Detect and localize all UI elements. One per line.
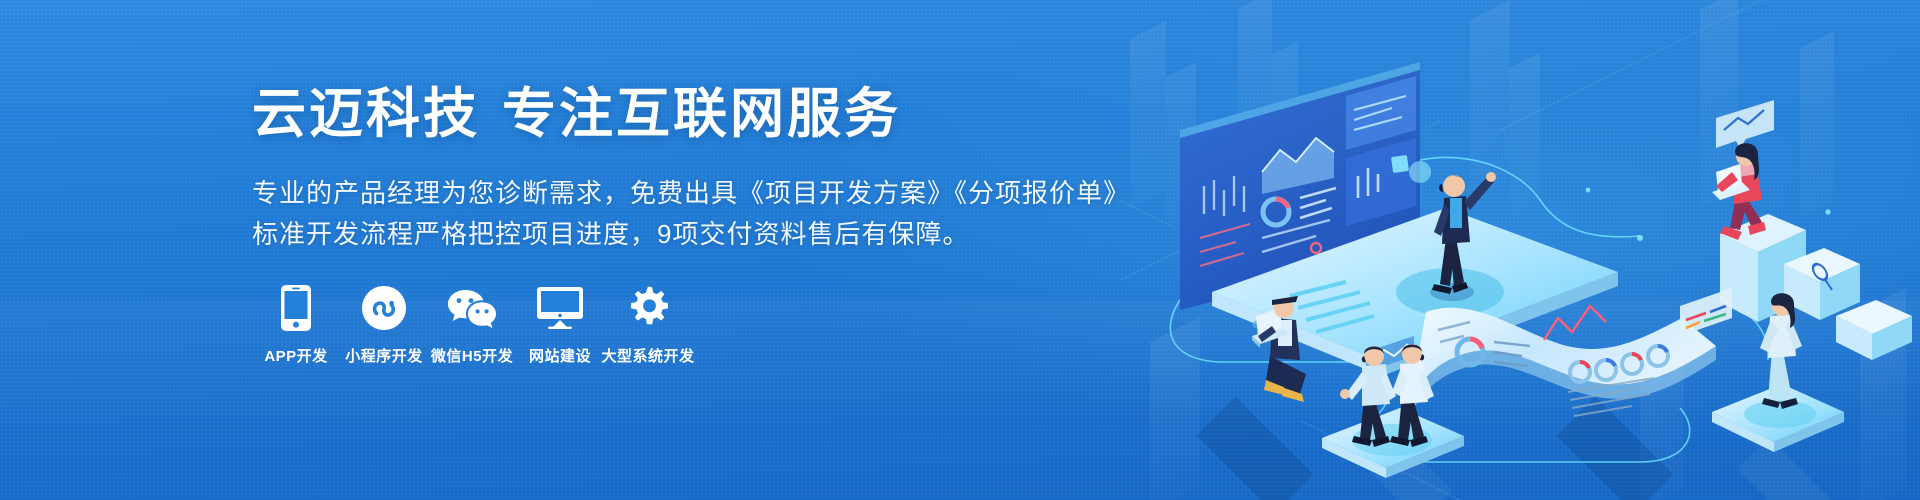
right-plate-cube	[1836, 300, 1912, 360]
service-icon-row: APP开发 小程序开发	[252, 284, 692, 366]
subtitle-line-1: 专业的产品经理为您诊断需求，免费出具《项目开发方案》《分项报价单》	[252, 173, 1112, 214]
code-snippet-tag	[1680, 288, 1732, 336]
gear-icon	[626, 284, 670, 332]
service-label-large-system: 大型系统开发	[602, 345, 695, 366]
monitor-icon	[537, 284, 583, 332]
service-label-website: 网站建设	[529, 345, 591, 366]
service-label-app: APP开发	[264, 345, 327, 366]
headline-brand: 云迈科技	[252, 84, 480, 144]
headline-tagline: 专注互联网服务	[502, 84, 901, 144]
mobile-phone-icon	[281, 284, 311, 332]
chart-bubble	[1716, 100, 1774, 148]
page-title: 云迈科技专注互联网服务	[252, 86, 1112, 143]
hero-banner: 云迈科技专注互联网服务 专业的产品经理为您诊断需求，免费出具《项目开发方案》《分…	[0, 0, 1920, 500]
service-item-wechat-h5[interactable]: 微信H5开发	[428, 284, 516, 366]
service-label-mini-program: 小程序开发	[345, 345, 423, 366]
banner-subtitle: 专业的产品经理为您诊断需求，免费出具《项目开发方案》《分项报价单》 标准开发流程…	[252, 173, 1112, 255]
service-item-app[interactable]: APP开发	[252, 284, 340, 366]
subtitle-line-2: 标准开发流程严格把控项目进度，9项交付资料售后有保障。	[252, 214, 1112, 255]
service-item-mini-program[interactable]: 小程序开发	[340, 284, 428, 366]
isometric-illustration	[1120, 0, 1920, 500]
banner-copy: 云迈科技专注互联网服务 专业的产品经理为您诊断需求，免费出具《项目开发方案》《分…	[252, 86, 1112, 255]
service-item-website[interactable]: 网站建设	[516, 284, 604, 366]
screen-touch-glow	[1409, 161, 1431, 183]
service-label-wechat-h5: 微信H5开发	[431, 345, 513, 366]
mini-program-icon	[362, 284, 406, 332]
service-item-large-system[interactable]: 大型系统开发	[604, 284, 692, 366]
wechat-icon	[447, 284, 497, 332]
